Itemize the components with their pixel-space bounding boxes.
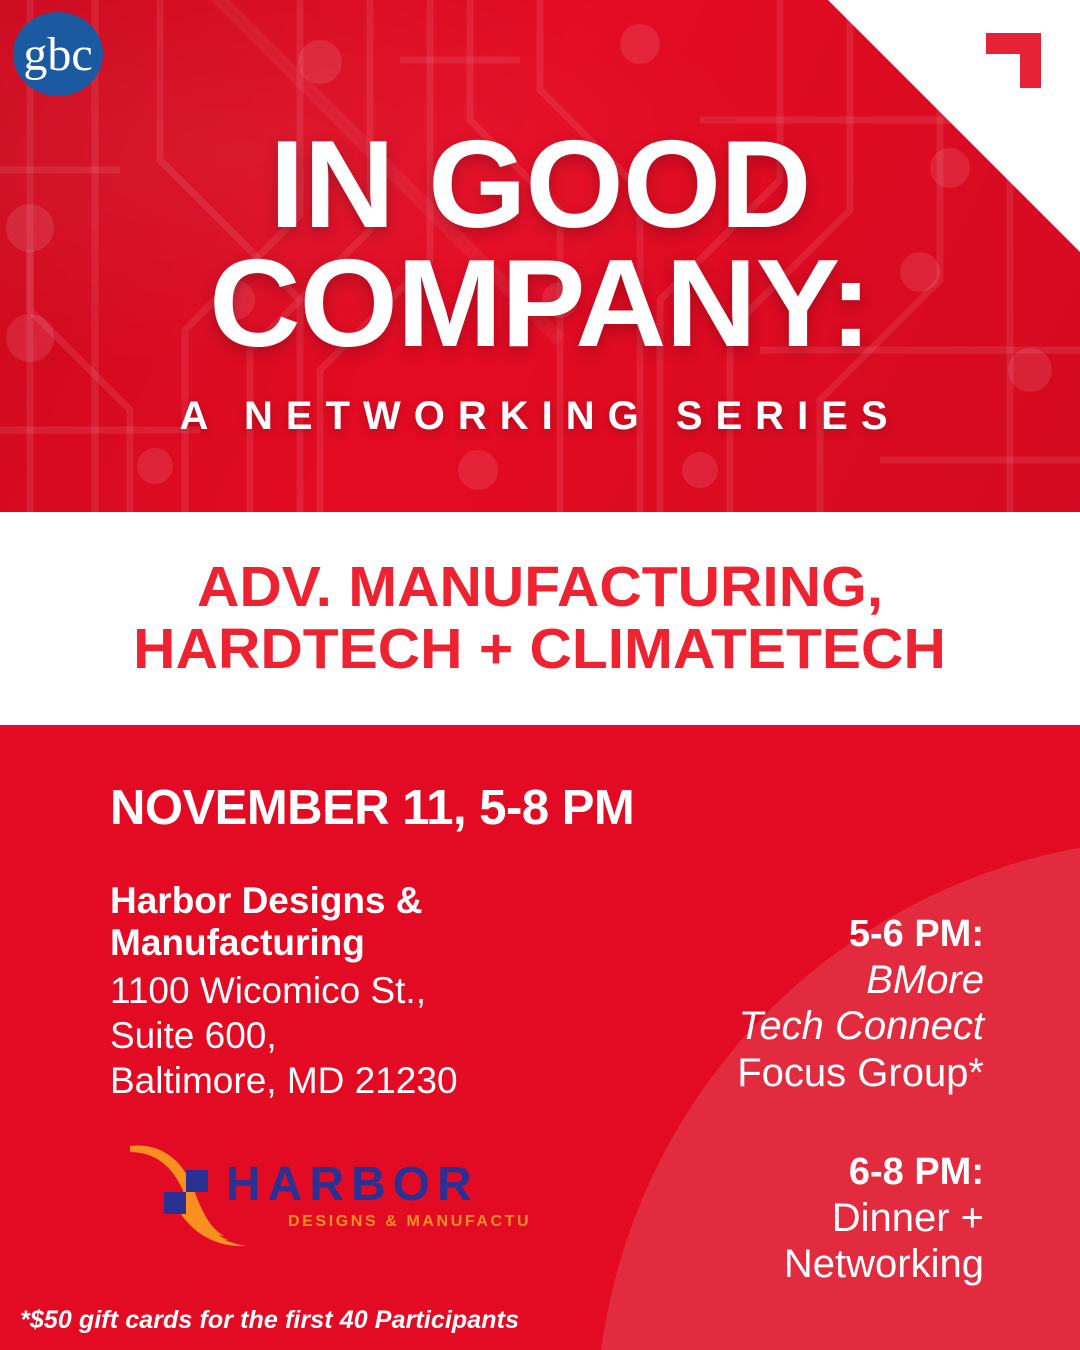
- topic-band: ADV. MANUFACTURING, HARDTECH + CLIMATETE…: [0, 512, 1080, 725]
- harbor-wordmark: HARBOR: [226, 1158, 479, 1211]
- topic-line-1: ADV. MANUFACTURING,: [197, 557, 883, 619]
- schedule-time: 6-8 PM:: [564, 1150, 984, 1195]
- schedule-item: 6-8 PM: Dinner + Networking: [564, 1150, 984, 1288]
- gbc-logo-text: gbc: [23, 28, 92, 81]
- schedule-desc-regular: Focus Group*: [564, 1050, 984, 1096]
- header-section: gbc IN GOOD COMPANY: A NETWORKING SERIES: [0, 0, 1080, 512]
- subtitle: A NETWORKING SERIES: [0, 394, 1080, 439]
- venue-name: Harbor Designs & Manufacturing: [110, 880, 490, 964]
- title-line-1: IN GOOD: [0, 126, 1080, 245]
- event-date: NOVEMBER 11, 5-8 PM: [110, 780, 670, 836]
- harbor-logo: HARBOR DESIGNS & MANUFACTURING: [128, 1128, 528, 1278]
- arrow-up-right-icon: [966, 22, 1052, 108]
- title-line-2: COMPANY:: [0, 245, 1080, 364]
- schedule-desc-line-1: Dinner +: [564, 1195, 984, 1241]
- schedule-desc-italic-2: Tech Connect: [564, 1003, 984, 1049]
- event-flyer: gbc IN GOOD COMPANY: A NETWORKING SERIES…: [0, 0, 1080, 1350]
- schedule-desc-line-2: Networking: [564, 1241, 984, 1287]
- schedule-description: Dinner + Networking: [564, 1195, 984, 1288]
- gbc-logo[interactable]: gbc: [12, 8, 104, 100]
- schedule-time: 5-6 PM:: [564, 912, 984, 957]
- schedule-item: 5-6 PM: BMore Tech Connect Focus Group*: [564, 912, 984, 1096]
- title-block: IN GOOD COMPANY: A NETWORKING SERIES: [0, 126, 1080, 439]
- footnote: *$50 gift cards for the first 40 Partici…: [20, 1306, 519, 1335]
- schedule-list: 5-6 PM: BMore Tech Connect Focus Group* …: [564, 912, 984, 1288]
- schedule-description: BMore Tech Connect Focus Group*: [564, 957, 984, 1096]
- schedule-desc-italic-1: BMore: [564, 957, 984, 1003]
- topic-line-2: HARDTECH + CLIMATETECH: [134, 619, 947, 681]
- harbor-tagline: DESIGNS & MANUFACTURING: [288, 1213, 528, 1230]
